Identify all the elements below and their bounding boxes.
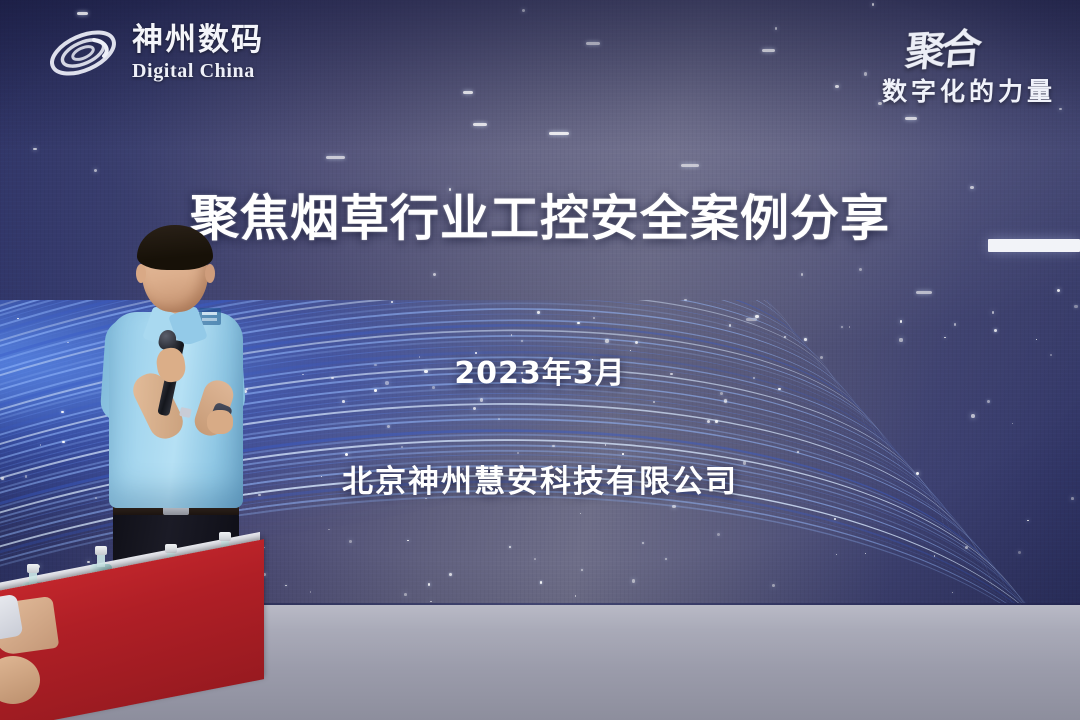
brand-name-en: Digital China	[132, 61, 264, 81]
brand-logo: 神州数码 Digital China	[44, 20, 264, 86]
event-calligraphy: 聚合	[903, 16, 981, 78]
speaker-ear-left	[136, 264, 146, 283]
conference-stage-photo: 神州数码 Digital China 聚合 数字化的力量 聚焦烟草行业工控安全案…	[0, 0, 1080, 720]
speaker-right-hand	[207, 410, 233, 434]
speaker-hair	[137, 225, 213, 270]
event-mark: 聚合 数字化的力量	[882, 18, 1056, 108]
speaker-ear-right	[205, 264, 215, 283]
brand-name-cn: 神州数码	[132, 25, 264, 56]
spiral-swoosh-icon	[44, 20, 122, 86]
